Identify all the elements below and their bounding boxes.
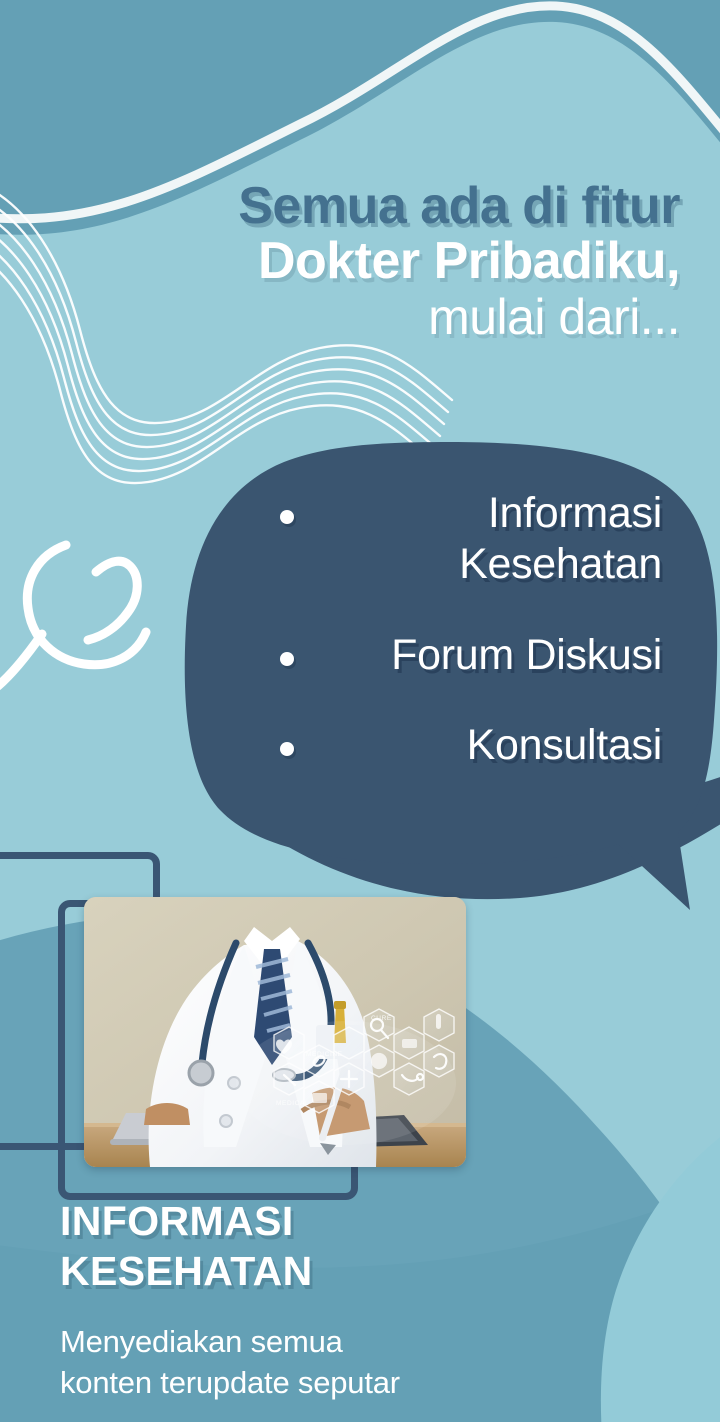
section-title-line-1: INFORMASI [60, 1196, 680, 1246]
headline-line-3: mulai dari... [0, 292, 680, 343]
bottom-copy-block: INFORMASI KESEHATAN Menyediakan semua ko… [60, 1196, 680, 1404]
bullet-icon [280, 510, 294, 524]
bubble-feature-list: Informasi Kesehatan Forum Diskusi Konsul… [180, 440, 720, 930]
doctor-photo-illustration: MEDICINE CURE MEDICAL [84, 897, 466, 1167]
headline-line-2: Dokter Pribadiku, [0, 235, 680, 288]
section-body-text: Menyediakan semua konten terupdate seput… [60, 1322, 680, 1404]
section-title-line-2: KESEHATAN [60, 1246, 680, 1296]
svg-text:CURE: CURE [371, 1015, 392, 1022]
poster-canvas: Semua ada di fitur Dokter Pribadiku, mul… [0, 0, 720, 1422]
speech-bubble: Informasi Kesehatan Forum Diskusi Konsul… [180, 440, 720, 930]
list-item-label: Informasi Kesehatan [332, 488, 662, 589]
doctor-photo: MEDICINE CURE MEDICAL [84, 897, 466, 1167]
list-item-label: Konsultasi [272, 720, 662, 771]
headline-line-1: Semua ada di fitur [0, 180, 680, 233]
list-item-label: Forum Diskusi [272, 630, 662, 681]
headline-block: Semua ada di fitur Dokter Pribadiku, mul… [0, 180, 680, 343]
